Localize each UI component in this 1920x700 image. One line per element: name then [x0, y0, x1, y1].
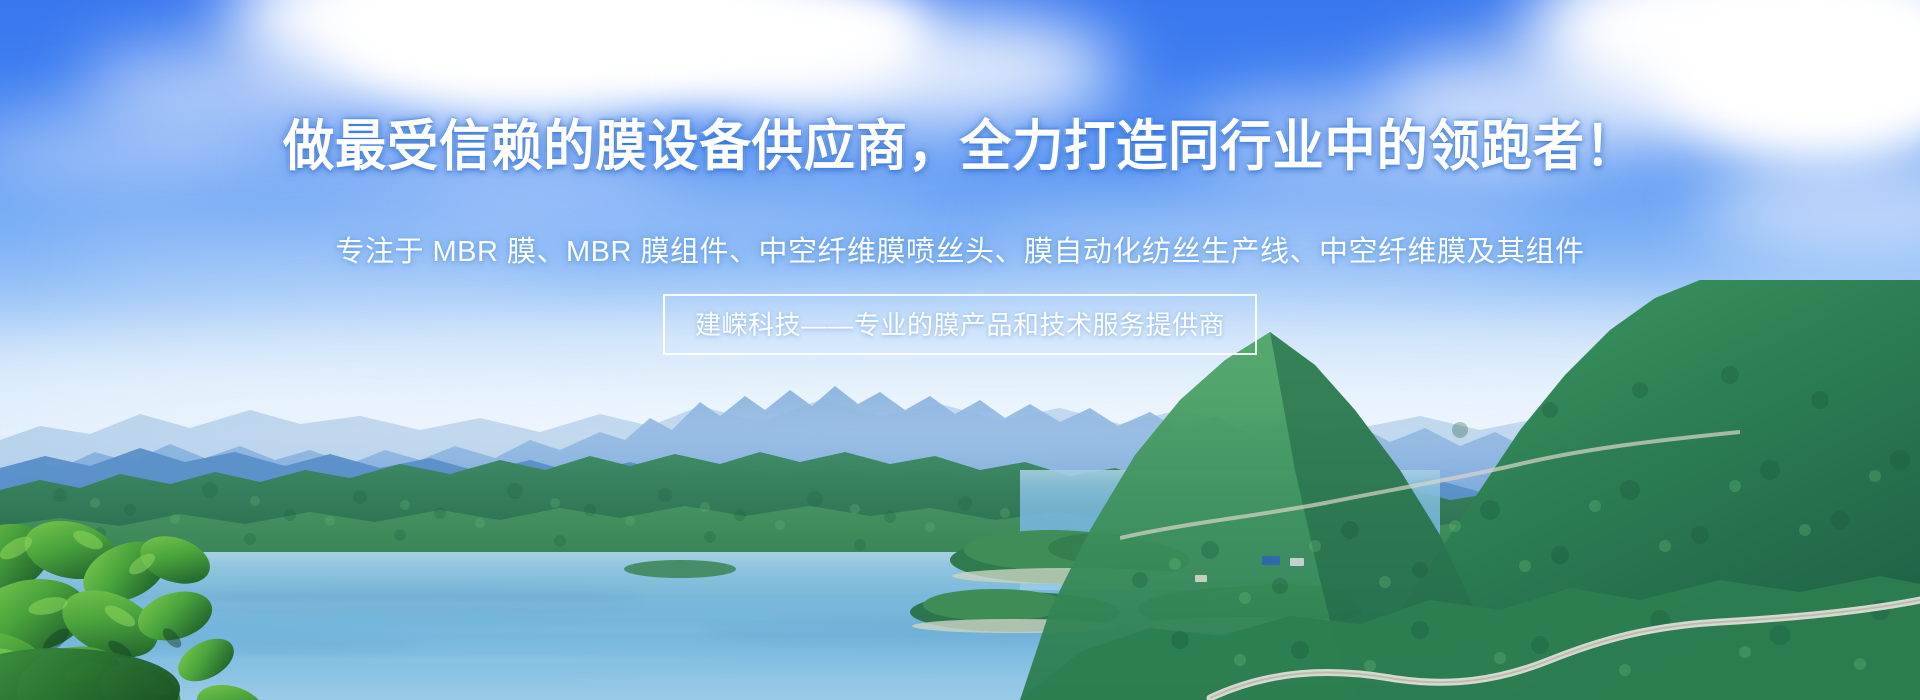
cloud-shape	[700, 10, 1120, 130]
hero-banner: 做最受信赖的膜设备供应商，全力打造同行业中的领跑者！ 专注于 MBR 膜、MBR…	[0, 0, 1920, 700]
shoreline-building	[1290, 558, 1304, 566]
cloud-shape	[420, 185, 940, 229]
tagline-badge[interactable]: 建嵘科技——专业的膜产品和技术服务提供商	[663, 294, 1257, 355]
lake-island	[620, 556, 740, 582]
cloud-shape	[980, 215, 1540, 265]
mountain-terrace-road	[1120, 430, 1740, 550]
winding-road	[1180, 560, 1920, 700]
shoreline-building	[1195, 575, 1207, 582]
shoreline-building	[1262, 556, 1280, 565]
cloud-shape	[1180, 90, 1580, 180]
cloud-shape	[60, 240, 560, 286]
